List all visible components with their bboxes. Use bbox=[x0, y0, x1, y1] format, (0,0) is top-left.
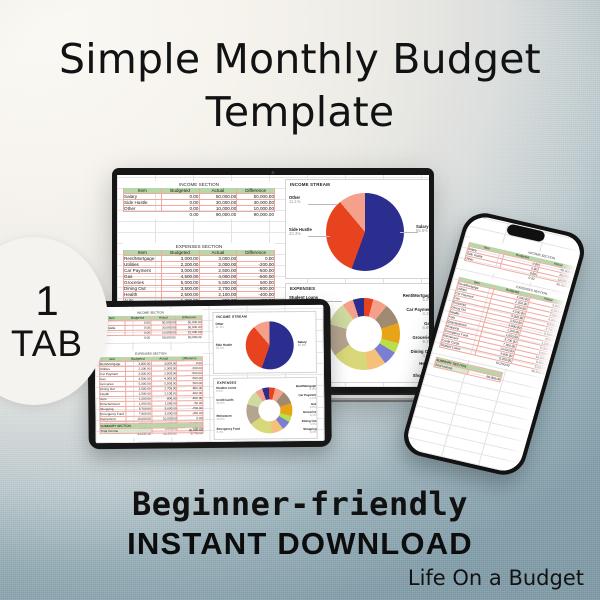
expenses-label-groceries: Groceries 9.1% bbox=[390, 336, 429, 345]
expenses-pct-gas: 6.6% bbox=[280, 406, 316, 409]
expenses-label-dining-out: Dining Out 4.5% bbox=[280, 420, 316, 426]
total-actual: 90,000.00 bbox=[199, 212, 237, 219]
expenses-pct-rent: 5.0% bbox=[280, 388, 316, 391]
income-label-salary: Salary 55.6% bbox=[416, 225, 429, 234]
expenses-pct-shopping: 8.3% bbox=[281, 431, 317, 434]
laptop-camera-icon bbox=[272, 171, 275, 174]
income-pie bbox=[245, 321, 294, 370]
income-pct-salary: 55.6% bbox=[416, 229, 429, 233]
expenses-pct-groceries: 9.1% bbox=[280, 414, 316, 417]
expenses-label-shopping: Shopping 8.3% bbox=[281, 428, 317, 434]
donut-hole bbox=[258, 399, 280, 421]
summary-total-income-label: Total Income bbox=[100, 428, 152, 434]
income-total-row: 0.0090,000.0090,000.00 bbox=[99, 335, 202, 342]
expenses-label-rent: Rent/Mortgage 5.0% bbox=[390, 294, 429, 303]
tablet-spreadsheet[interactable]: INCOME SECTION Item Budgeted Actual Diff… bbox=[94, 305, 324, 443]
tablet-summary-table[interactable]: SUMMARY SECTION Total Income90,000.00 bbox=[100, 422, 204, 434]
promo-block: Beginner-friendly INSTANT DOWNLOAD Life … bbox=[0, 484, 600, 592]
expenses-label-retirement: Retirement 16.5% bbox=[216, 415, 231, 421]
promo-beginner-friendly: Beginner-friendly bbox=[0, 484, 600, 524]
income-pct-side-hustle: 33.3% bbox=[289, 232, 312, 236]
income-chart-title: INCOME STREAM bbox=[290, 182, 330, 187]
tablet-expenses-chart-card[interactable]: EXPENSES Student Loans 8.3% Credit Cards… bbox=[213, 377, 318, 440]
income-pct-side-hustle: 33.3% bbox=[216, 347, 232, 350]
expenses-rows-tablet: Rent/Mortgage3,000.003,000.000.00Utiliti… bbox=[99, 361, 203, 432]
income-pct-other: 11.1% bbox=[215, 326, 223, 329]
total-actual: 90,000.00 bbox=[151, 335, 177, 341]
expenses-pct-dining-out: 4.5% bbox=[390, 354, 429, 358]
table-row: Total Income90,000.00 bbox=[100, 428, 203, 434]
expenses-label-credit-cards: Credit Cards 14.5% bbox=[216, 399, 233, 405]
income-label-salary: Salary 55.6% bbox=[298, 341, 307, 347]
expenses-label-car-payment: Car Payment 4.1% bbox=[390, 308, 429, 317]
expenses-pct-emergency-fund: 8.3% bbox=[217, 431, 240, 434]
laptop-income-chart-card[interactable]: INCOME STREAM Other 11.1% Side Hustle 33… bbox=[285, 179, 429, 279]
income-total-row: 0.0090,000.0090,000.00 bbox=[124, 212, 275, 219]
expenses-label-rent: Rent/Mortgage 5.0% bbox=[280, 385, 316, 391]
brand-name: Life On a Budget bbox=[0, 565, 600, 592]
expenses-label-student-loans: Student Loans 8.3% bbox=[216, 387, 236, 393]
cell-item[interactable]: Emergency Fund bbox=[100, 411, 126, 416]
page-title: Simple Monthly Budget Template bbox=[0, 33, 600, 139]
expenses-pct-retirement: 16.5% bbox=[216, 418, 231, 421]
income-label-side-hustle: Side Hustle 33.3% bbox=[216, 344, 232, 350]
expenses-label-emergency-fund: Emergency Fund 8.3% bbox=[217, 428, 241, 434]
tablet-mockup: INCOME SECTION Item Budgeted Actual Diff… bbox=[87, 299, 332, 450]
expenses-label-gas: Gas 6.6% bbox=[390, 322, 429, 331]
total-budgeted: 0.00 bbox=[161, 212, 199, 219]
expenses-chart-title: EXPENSES bbox=[217, 381, 236, 385]
page-title-line-1: Simple Monthly Budget bbox=[59, 35, 541, 83]
expenses-pct-rent: 5.0% bbox=[390, 298, 429, 302]
expenses-label-groceries: Groceries 9.1% bbox=[280, 411, 316, 417]
income-chart-title: INCOME STREAM bbox=[216, 315, 247, 319]
expenses-pct-car-payment: 4.1% bbox=[280, 397, 316, 400]
total-difference: 90,000.00 bbox=[176, 335, 202, 341]
expenses-pct-student-loans: 8.3% bbox=[216, 390, 236, 393]
income-pct-other: 11.1% bbox=[289, 200, 301, 204]
expenses-chart-title: EXPENSES bbox=[290, 286, 315, 291]
expenses-pct-groceries: 9.1% bbox=[390, 340, 429, 344]
expenses-pct-gas: 6.6% bbox=[390, 326, 429, 330]
lead-line-other bbox=[308, 204, 338, 205]
donut-hole bbox=[346, 316, 382, 352]
promo-instant-download: INSTANT DOWNLOAD bbox=[0, 524, 600, 564]
expenses-pct-dining-out: 4.5% bbox=[281, 423, 317, 426]
expenses-pct-car-payment: 4.1% bbox=[390, 312, 429, 316]
page-title-line-2: Template bbox=[0, 86, 600, 139]
income-label-side-hustle: Side Hustle 33.3% bbox=[289, 228, 312, 237]
income-label-other: Other 11.1% bbox=[289, 196, 301, 205]
expenses-label-car-payment: Car Payment 4.1% bbox=[280, 394, 316, 400]
total-difference: 90,000.00 bbox=[237, 212, 275, 219]
tablet-income-table[interactable]: INCOME SECTION Item Budgeted Actual Diff… bbox=[98, 309, 202, 342]
tablet-screen: INCOME SECTION Item Budgeted Actual Diff… bbox=[94, 305, 324, 443]
expenses-pct-credit-cards: 14.5% bbox=[216, 402, 233, 405]
tablet-income-chart-card[interactable]: INCOME STREAM Other 11.1% Side Hustle 33… bbox=[212, 311, 317, 374]
laptop-income-table[interactable]: INCOME SECTION Item Budgeted Actual Diff… bbox=[123, 181, 275, 219]
expenses-label-dining-out: Dining Out 4.5% bbox=[390, 350, 429, 359]
tab-count-number: 1 bbox=[35, 278, 58, 324]
income-pct-salary: 55.6% bbox=[298, 344, 307, 347]
expenses-label-gas: Gas 6.6% bbox=[280, 403, 316, 409]
tab-count-label: TAB bbox=[11, 324, 83, 364]
income-label-other: Other 11.1% bbox=[215, 323, 223, 329]
summary-total-income-value[interactable]: 90,000.00 bbox=[152, 428, 204, 434]
total-budgeted: 0.00 bbox=[125, 335, 151, 341]
